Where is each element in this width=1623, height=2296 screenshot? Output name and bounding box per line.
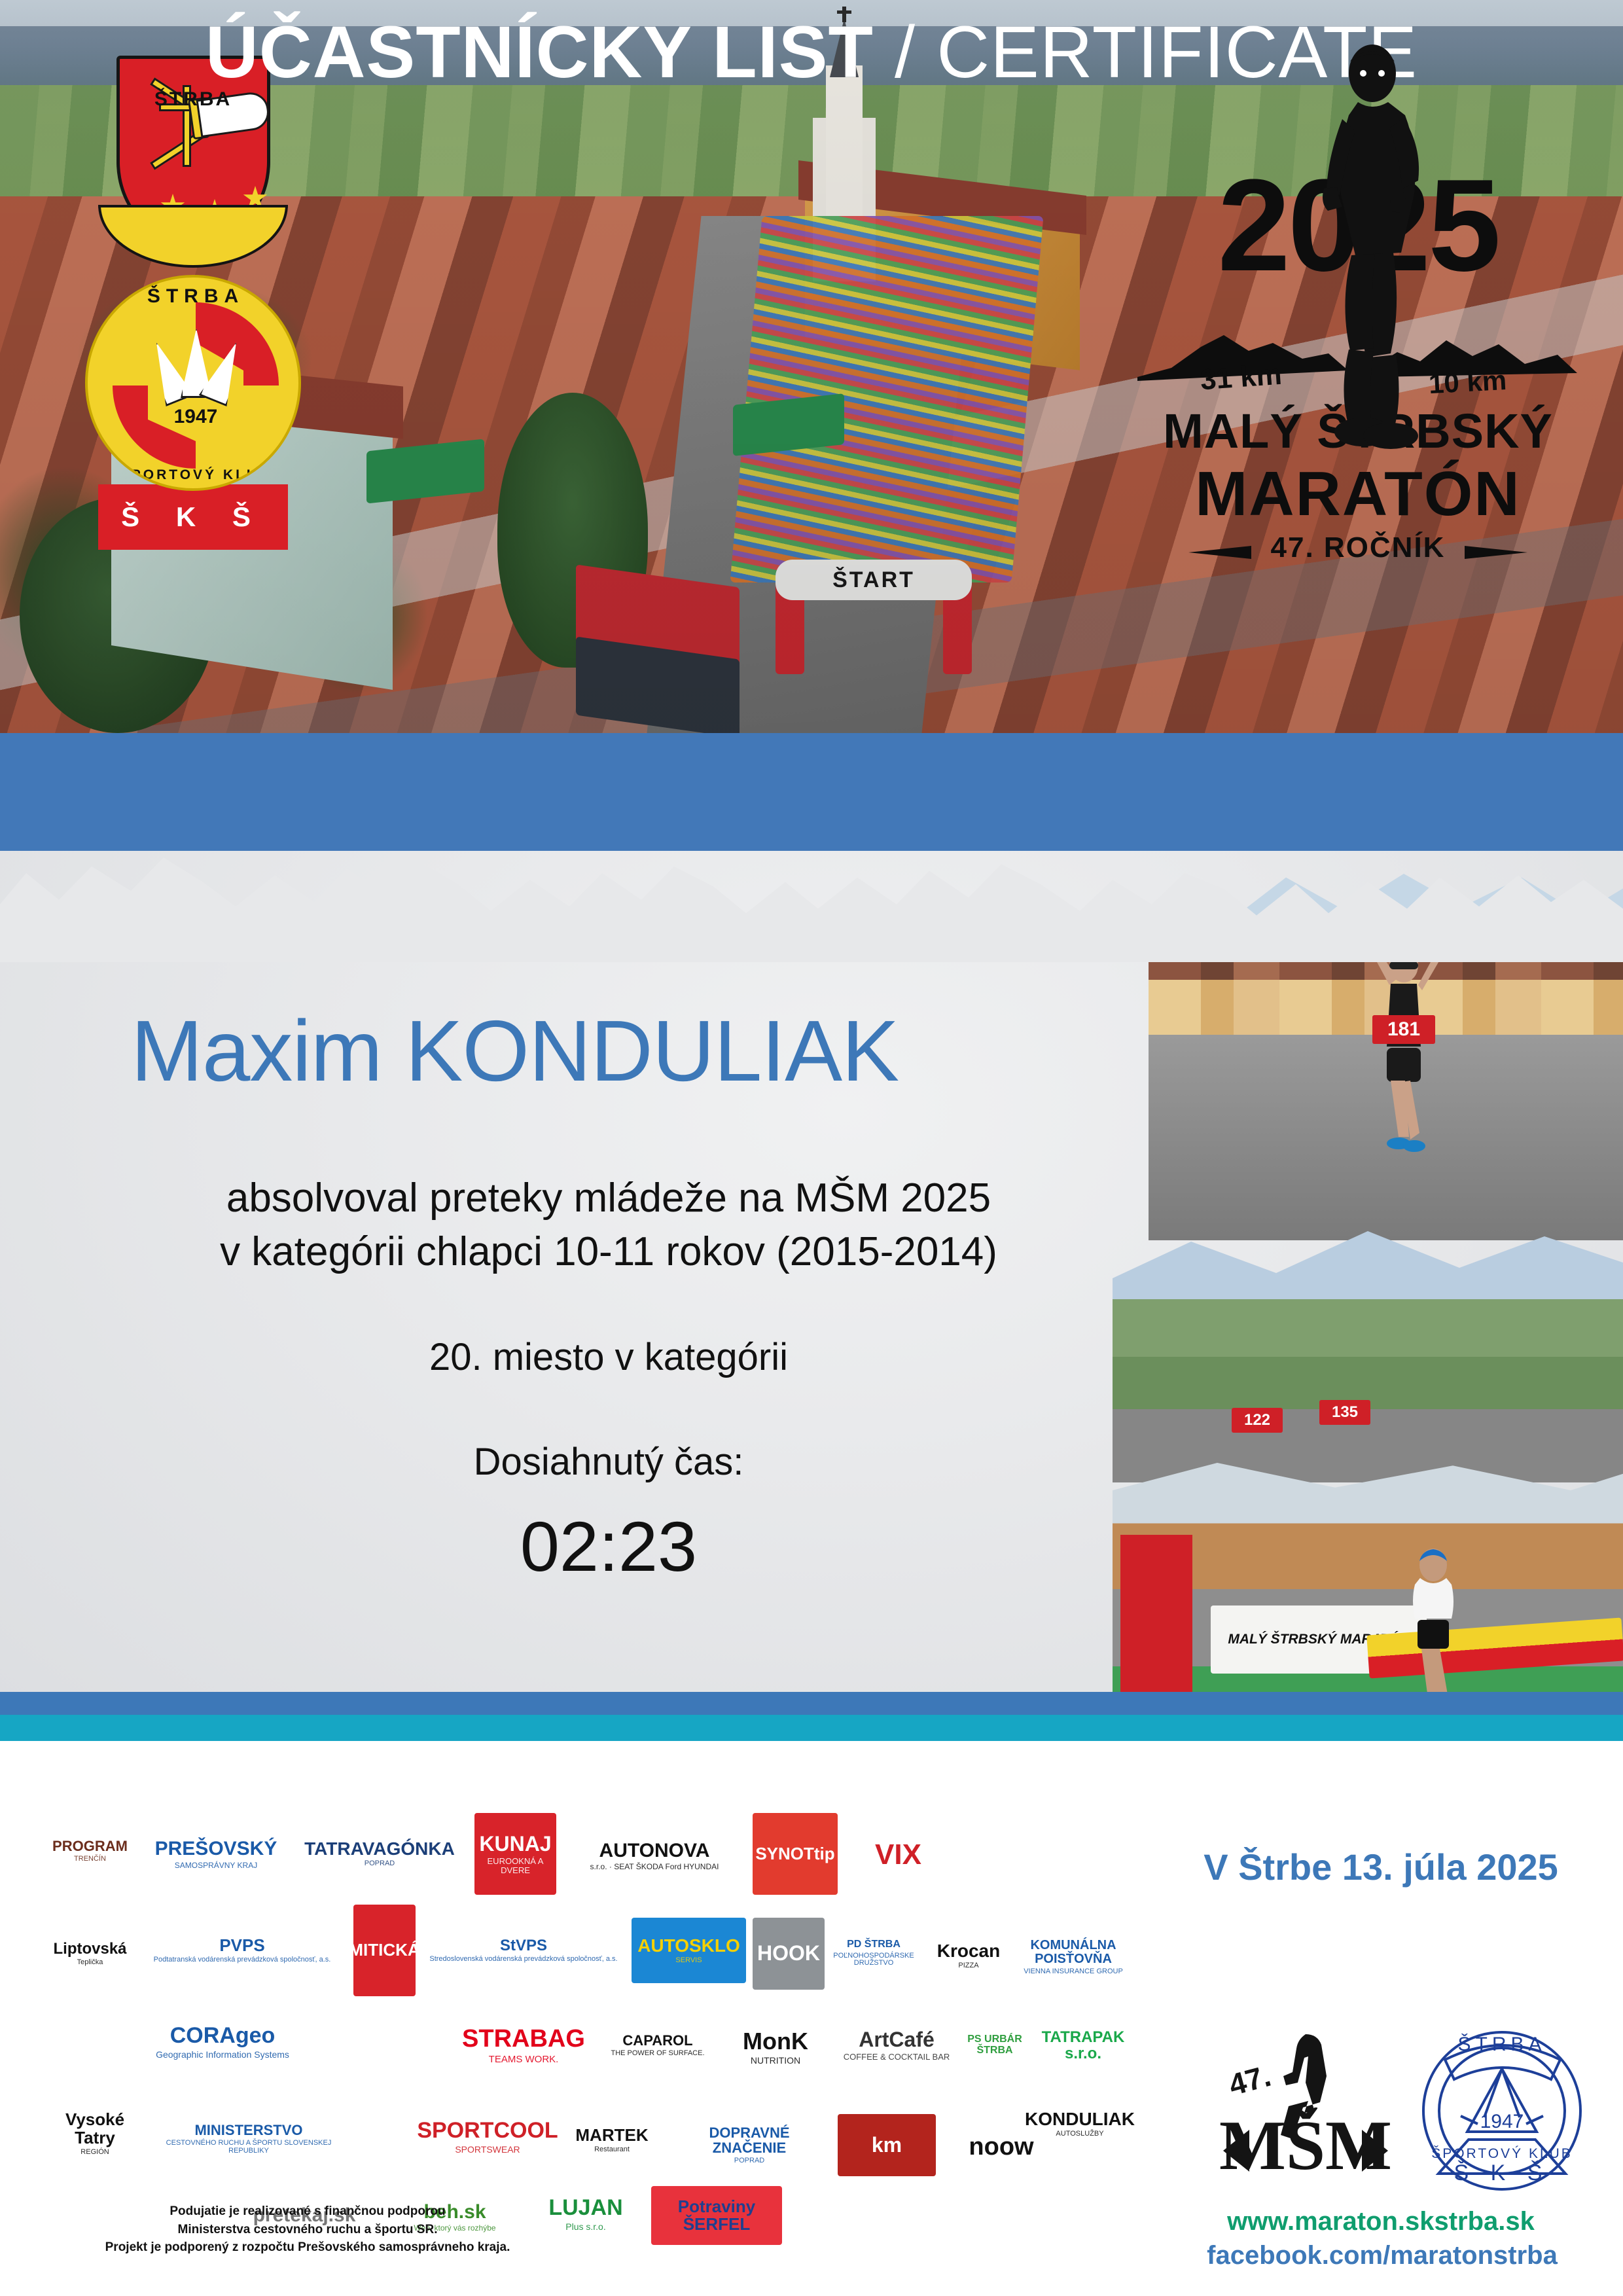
sponsor-name: MINISTERSTVO <box>194 2123 302 2138</box>
sponsor-tagline: TEAMS WORK. <box>489 2054 559 2065</box>
sponsor-name: TATRAPAK s.r.o. <box>1034 2029 1132 2062</box>
sponsor-tagline: POPRAD <box>734 2157 764 2165</box>
sponsor-name: ArtCafé <box>859 2029 935 2051</box>
sponsor-tagline: Plus s.r.o. <box>565 2222 605 2232</box>
event-edition: 47. ROČNÍK <box>1132 531 1584 564</box>
sponsor-logo: AUTONOVAs.r.o. · SEAT ŠKODA Ford HYUNDAI <box>569 1818 740 1893</box>
sponsor-name: LUJAN <box>548 2197 622 2220</box>
runner-figure <box>1364 939 1443 1155</box>
sponsor-name: AUTONOVA <box>599 1840 710 1861</box>
placement-text: 20. miesto v kategórii <box>131 1335 1086 1379</box>
sponsor-name: MARTEK <box>575 2126 648 2144</box>
sponsor-name: Liptovská <box>53 1941 126 1957</box>
time-value: 02:23 <box>131 1505 1086 1587</box>
sponsor-tagline: NUTRITION <box>751 2056 800 2066</box>
legal-line-1: Podujatie je realizované s finančnou pod… <box>65 2202 550 2221</box>
sponsor-logo: DOPRAVNÉ ZNAČENIEPOPRAD <box>674 2114 825 2176</box>
sponsor-tagline: s.r.o. · SEAT ŠKODA Ford HYUNDAI <box>590 1863 719 1871</box>
sponsor-logo: STRABAGTEAMS WORK. <box>452 2009 596 2081</box>
sponsor-tagline: REGIÓN <box>80 2149 109 2157</box>
sponsor-logo: Vysoké TatryREGIÓN <box>46 2088 144 2179</box>
description-line-2: v kategórii chlapci 10-11 rokov (2015-20… <box>131 1225 1086 1279</box>
sponsor-tagline: THE POWER OF SURFACE. <box>611 2050 704 2058</box>
sponsor-logo: Potraviny ŠERFEL <box>651 2186 782 2245</box>
time-label: Dosiahnutý čas: <box>131 1440 1086 1484</box>
sponsor-tagline: Geographic Information Systems <box>156 2050 289 2060</box>
sponsor-name: CAPAROL <box>622 2033 692 2048</box>
sponsor-logos: PROGRAMTRENČÍNPREŠOVSKÝSAMOSPRÁVNY KRAJT… <box>46 1806 1132 2225</box>
sponsor-tagline: PIZZA <box>958 1962 978 1970</box>
svg-text:ŠPORTOVÝ KLUB: ŠPORTOVÝ KLUB <box>1431 2146 1573 2161</box>
sports-club-emblem-icon: ŠTRBA 1947 ŠPORTOVÝ KLUB <box>85 275 301 491</box>
runner-silhouette-icon <box>1312 39 1430 465</box>
svg-text:MŠM: MŠM <box>1219 2107 1392 2185</box>
sponsor-name: VIX <box>875 1840 921 1870</box>
sponsor-name: SPORTCOOL <box>417 2119 558 2143</box>
sponsor-name: HOOK <box>757 1943 820 1965</box>
website-link[interactable]: www.maraton.skstrba.sk <box>1178 2207 1584 2236</box>
sponsor-name: PREŠOVSKÝ <box>155 1839 277 1859</box>
sponsor-name: Krocan <box>937 1941 1000 1960</box>
msm-stamp-icon: 47. MŠM <box>1207 2022 1404 2219</box>
sponsor-name: MITICKÁ <box>349 1941 419 1959</box>
sponsor-logo: SPORTCOOLSPORTSWEAR <box>412 2101 563 2173</box>
sponsor-name: PS URBÁR ŠTRBA <box>955 2034 1034 2056</box>
sponsor-name: PROGRAM <box>52 1839 128 1854</box>
sponsor-name: PVPS <box>219 1937 264 1954</box>
sponsor-logo: PD ŠTRBAPOĽNOHOSPODÁRSKE DRUŽSTVO <box>831 1912 916 1994</box>
sponsor-logo: PVPSPodtatranská vodárenská prevádzková … <box>144 1911 340 1990</box>
sponsor-tagline: TRENČÍN <box>74 1856 106 1863</box>
facebook-link[interactable]: facebook.com/maratonstrba <box>1173 2241 1592 2270</box>
certificate-title-banner <box>0 733 1623 851</box>
sponsor-name: KUNAJ <box>479 1833 551 1856</box>
event-logo: 2025 31 km 10 km <box>1132 39 1584 583</box>
sponsor-name: AUTOSKLO <box>637 1936 740 1955</box>
club-year: 1947 <box>88 406 301 428</box>
sponsor-logo: PROGRAMTRENČÍN <box>46 1806 134 1895</box>
sponsor-name: CORAgeo <box>170 2024 276 2048</box>
event-title-line2: MARATÓN <box>1132 458 1584 530</box>
sponsor-logo: StVPSStredoslovenská vodárenská prevádzk… <box>425 1911 622 1990</box>
sponsor-tagline: Restaurant <box>594 2146 630 2154</box>
photo-collage: 181 122 135 MALÝ ŠTRBSKÝ MARATÓN <box>1113 874 1623 1718</box>
club-bottom-text: ŠPORTOVÝ KLUB <box>88 467 301 483</box>
sponsor-name: km <box>872 2134 902 2157</box>
sponsor-tagline: SPORTSWEAR <box>455 2145 520 2155</box>
sponsor-name: Potraviny ŠERFEL <box>651 2198 782 2234</box>
sponsor-tagline: Stredoslovenská vodárenská prevádzková s… <box>429 1956 617 1964</box>
participant-name: Maxim KONDULIAK <box>131 1001 1086 1100</box>
sponsor-name: STRABAG <box>462 2026 585 2053</box>
sponsor-logo: VIX <box>851 1816 946 1894</box>
sponsor-logo: KrocanPIZZA <box>926 1916 1011 1995</box>
sponsor-logo: PS URBÁR ŠTRBA <box>955 2003 1034 2088</box>
club-top-text: ŠTRBA <box>88 285 301 308</box>
sponsor-logo: TATRAPAK s.r.o. <box>1034 2013 1132 2078</box>
bib-number: 122 <box>1232 1408 1283 1433</box>
sponsor-logo: MINISTERSTVOCESTOVNÉHO RUCHU A ŠPORTU SL… <box>151 2094 347 2183</box>
sponsor-logo: KOMUNÁLNA POISŤOVŇAVIENNA INSURANCE GROU… <box>1014 1924 1132 1990</box>
sponsor-tagline: POPRAD <box>365 1860 395 1868</box>
svg-text:Š K Š: Š K Š <box>1454 2161 1550 2185</box>
sponsor-logo: CAPAROLTHE POWER OF SURFACE. <box>609 2006 707 2085</box>
sponsor-logo: MonKNUTRITION <box>720 2013 831 2081</box>
sks-abbr: Š K Š <box>98 501 288 533</box>
sponsor-logo: PREŠOVSKÝSAMOSPRÁVNY KRAJ <box>144 1818 288 1890</box>
distance-long-label: 31 km <box>1199 359 1283 397</box>
bib-number: 135 <box>1319 1400 1370 1425</box>
sponsor-logo: AUTOSKLOSERVIS <box>632 1918 746 1983</box>
svg-text:ŠTRBA: ŠTRBA <box>1457 2033 1546 2055</box>
sponsor-tagline: CESTOVNÉHO RUCHU A ŠPORTU SLOVENSKEJ REP… <box>151 2140 347 2155</box>
description-line-1: absolvoval preteky mládeže na MŠM 2025 <box>131 1172 1086 1225</box>
sponsor-logo: MARTEKRestaurant <box>563 2101 661 2179</box>
legal-line-2: Ministerstva cestovného ruchu a športu S… <box>65 2221 550 2239</box>
certificate-description: absolvoval preteky mládeže na MŠM 2025 v… <box>131 1172 1086 1279</box>
certificate-page: ŠTART ŠTRBA Š K Š ŠTRBA 1947 ŠPORTOVÝ KL… <box>0 0 1623 2296</box>
sks-stamp-icon: ŠTRBA 1947 ŠPORTOVÝ KLUB Š K Š <box>1407 2019 1597 2215</box>
sponsor-name: PD ŠTRBA <box>847 1939 901 1950</box>
sponsor-tagline: SAMOSPRÁVNY KRAJ <box>175 1861 257 1870</box>
sponsor-logo: CORAgeoGeographic Information Systems <box>131 2003 314 2081</box>
sponsor-name: noow <box>969 2134 1033 2161</box>
sponsor-tagline: VIENNA INSURANCE GROUP <box>1024 1968 1123 1976</box>
sponsor-logo: HOOK <box>753 1918 825 1990</box>
sponsor-logo: MITICKÁ <box>353 1905 416 1996</box>
sponsor-tagline: POĽNOHOSPODÁRSKE DRUŽSTVO <box>831 1952 916 1967</box>
sponsor-name: MonK <box>743 2029 808 2054</box>
sponsor-logo: ArtCaféCOFFEE & COCKTAIL BAR <box>841 2006 952 2085</box>
sponsor-logo: km <box>838 2114 936 2176</box>
bib-number: 181 <box>1372 1015 1435 1044</box>
sponsor-name: KOMUNÁLNA POISŤOVŇA <box>1014 1939 1132 1966</box>
sponsor-logo: noow <box>955 2119 1047 2175</box>
sks-red-bar: Š K Š <box>98 484 288 550</box>
sponsor-logo: TATRAVAGÓNKAPOPRAD <box>301 1821 458 1886</box>
svg-text:47.: 47. <box>1225 2058 1274 2102</box>
sponsor-logo: KUNAJEUROOKNÁ A DVERE <box>474 1813 556 1895</box>
photo-runners-field: 122 135 <box>1113 1221 1623 1482</box>
svg-text:1947: 1947 <box>1480 2111 1524 2132</box>
sponsor-name: Vysoké Tatry <box>46 2111 144 2147</box>
sponsor-name: SYNOTtip <box>755 1845 834 1863</box>
sponsor-tagline: Teplička <box>77 1959 103 1967</box>
sponsor-name: StVPS <box>500 1937 547 1954</box>
legal-disclaimer: Podujatie je realizované s finančnou pod… <box>65 2202 550 2257</box>
sponsor-tagline: EUROOKNÁ A DVERE <box>474 1857 556 1874</box>
legal-line-3: Projekt je podporený z rozpočtu Prešovsk… <box>65 2238 550 2257</box>
sponsor-logo: SYNOTtip <box>753 1813 838 1895</box>
sponsor-tagline: COFFEE & COCKTAIL BAR <box>844 2053 950 2062</box>
sponsor-name: DOPRAVNÉ ZNAČENIE <box>674 2125 825 2155</box>
distance-short-label: 10 km <box>1428 365 1507 400</box>
sponsor-tagline: AUTOSLUŽBY <box>1056 2130 1103 2138</box>
title-slovak: ÚČASTNÍCKY LIST <box>205 11 874 93</box>
sponsor-tagline: Podtatranská vodárenská prevádzková spol… <box>154 1956 331 1964</box>
sponsor-tagline: SERVIS <box>675 1957 702 1965</box>
sponsor-name: TATRAVAGÓNKA <box>304 1839 455 1858</box>
sponsor-logo: LiptovskáTeplička <box>46 1905 134 2003</box>
date-and-place: V Štrbe 13. júla 2025 <box>1178 1846 1584 1888</box>
